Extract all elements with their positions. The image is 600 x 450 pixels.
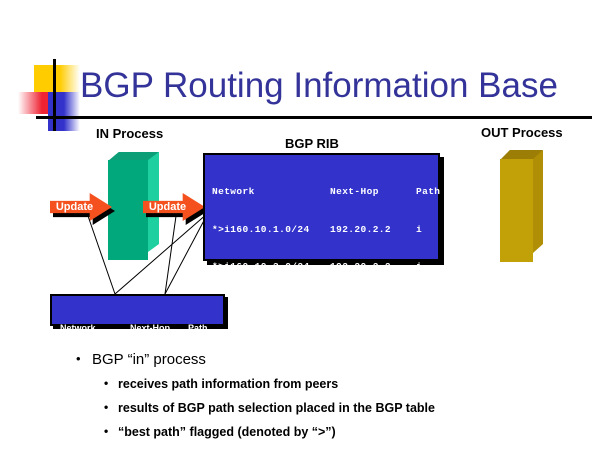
bullet-level2: “best path” flagged (denoted by “>”) [74,424,574,441]
update-arrow-to-rib: Update [143,193,205,225]
update-arrow-label: Update [53,200,96,214]
table-row: *> 173.21.0.0/16192.20.2.1100 [212,299,440,312]
deco-yellow-square [34,65,60,92]
table-row: *>i160.10.3.0/24192.20.2.2i [212,261,440,274]
header-network: Network [60,323,130,335]
deco-blue-gradient [64,92,80,131]
bgp-rib-table-panel: NetworkNext-HopPath *>i160.10.1.0/24192.… [203,153,440,261]
deco-yellow-gradient [60,65,80,92]
page-title: BGP Routing Information Base [80,64,590,108]
title-underline-rule [53,116,592,119]
cell-path: 100 [416,299,434,312]
slide-canvas: BGP Routing Information Base IN Process … [0,0,600,450]
deco-blue-square [48,92,64,131]
out-process-bar-side [533,150,543,253]
deco-vertical-line [53,59,56,131]
out-process-label: OUT Process [481,125,563,140]
bgp-rib-table: NetworkNext-HopPath *>i160.10.1.0/24192.… [212,161,440,336]
cell-next-hop: 192.20.2.1 [330,299,416,312]
table-row: *>i160.10.1.0/24192.20.2.2i [212,224,440,237]
header-network: Network [212,186,330,199]
bgp-rib-label: BGP RIB [285,136,339,151]
in-process-label: IN Process [96,126,163,141]
table-header-row: NetworkNext-HopPath [60,323,208,335]
cell-next-hop: 192.20.2.2 [330,224,416,237]
cell-network: *>i160.10.3.0/24 [212,261,330,274]
title-decoration-graphic [18,59,80,131]
table-header-row: NetworkNext-HopPath [212,186,440,199]
out-process-bar-face [500,159,533,262]
header-next-hop: Next-Hop [330,186,416,199]
update-arrow-inbound: Update [50,193,112,225]
deco-red-gradient [18,92,42,114]
in-process-bar-face [108,160,148,260]
bullet-level1: BGP “in” process [74,350,574,370]
bullet-list: BGP “in” process receives path informati… [74,350,574,448]
header-path: Path [188,323,208,335]
route-detail-callout-panel: NetworkNext-HopPath 173.21.0.0/16192.20.… [50,294,225,326]
header-path: Path [416,186,440,199]
update-arrow-label: Update [146,200,189,214]
cell-path: i [416,261,422,274]
cell-network: *>i160.10.1.0/24 [212,224,330,237]
header-next-hop: Next-Hop [130,323,188,335]
cell-path: i [416,224,422,237]
bullet-level2: results of BGP path selection placed in … [74,400,574,417]
bullet-level2: receives path information from peers [74,376,574,393]
out-process-bar [500,150,546,262]
cell-next-hop: 192.20.2.2 [330,261,416,274]
cell-network: *> 173.21.0.0/16 [212,299,330,312]
